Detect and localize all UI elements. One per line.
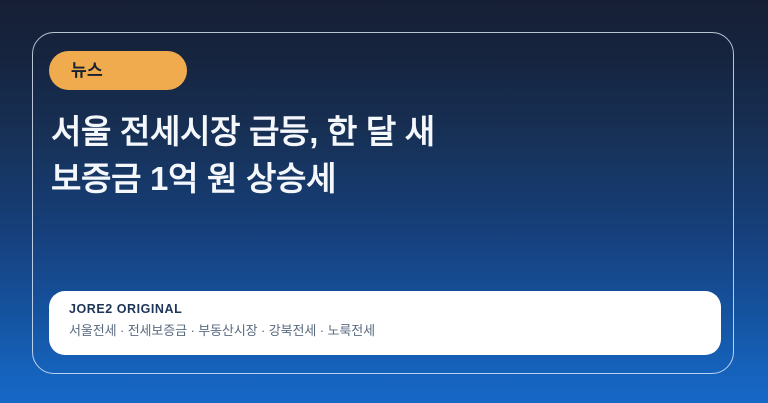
headline-line-2: 보증금 1억 원 상승세 [51,156,691,203]
headline: 서울 전세시장 급등, 한 달 새 보증금 1억 원 상승세 [51,109,691,203]
category-badge-label: 뉴스 [71,62,103,79]
category-badge[interactable]: 뉴스 [49,51,187,90]
source-tags-list: 서울전세 · 전세보증금 · 부동산시장 · 강북전세 · 노룩전세 [69,323,701,340]
news-card: 뉴스 서울 전세시장 급등, 한 달 새 보증금 1억 원 상승세 JORE2 … [32,32,734,374]
source-card[interactable]: JORE2 ORIGINAL 서울전세 · 전세보증금 · 부동산시장 · 강북… [49,291,721,355]
headline-line-1: 서울 전세시장 급등, 한 달 새 [51,109,691,156]
source-brand-label: JORE2 ORIGINAL [69,302,701,318]
